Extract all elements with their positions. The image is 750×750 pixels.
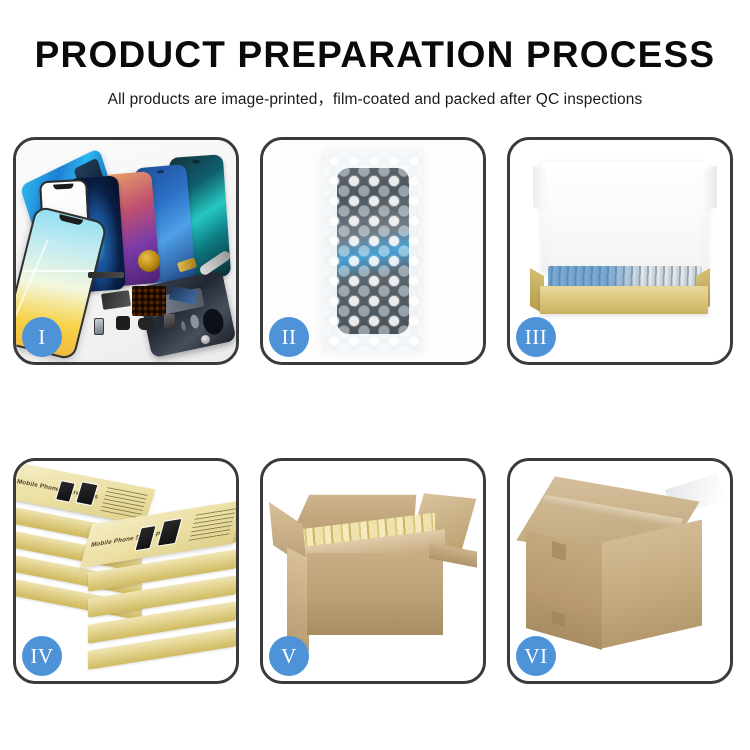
gold-connector-icon	[177, 257, 197, 272]
step-badge-2: II	[269, 317, 309, 357]
box-front-panel	[540, 286, 708, 314]
header: PRODUCT PREPARATION PROCESS All products…	[0, 0, 750, 109]
notch-icon	[53, 184, 73, 190]
printed-screen-image	[157, 518, 183, 547]
button-part-icon	[138, 318, 154, 330]
camera-module-icon	[116, 316, 130, 330]
printed-spec-lines	[189, 507, 236, 541]
step-badge-1: I	[22, 317, 62, 357]
ic-chip-icon	[132, 286, 166, 316]
step-panel-5: V	[260, 458, 486, 684]
product-preparation-infographic: PRODUCT PREPARATION PROCESS All products…	[0, 0, 750, 750]
notch-icon	[58, 214, 83, 226]
bubble-wrapped-contents	[548, 266, 702, 288]
bubble-wrap-bag	[324, 151, 422, 351]
flex-cable-blue-icon	[169, 285, 197, 304]
step-panel-6: VI	[507, 458, 733, 684]
carton-front-face	[307, 553, 443, 635]
page-title: PRODUCT PREPARATION PROCESS	[0, 36, 750, 75]
step-badge-4: IV	[22, 636, 62, 676]
process-steps-grid: I II	[0, 137, 750, 684]
screw-icon	[201, 335, 210, 344]
step-badge-6: VI	[516, 636, 556, 676]
step-panel-1: I	[13, 137, 239, 365]
sensor-part-icon	[164, 314, 175, 329]
sim-tray-icon	[94, 318, 104, 335]
step-panel-2: II	[260, 137, 486, 365]
step-panel-3: III	[507, 137, 733, 365]
page-subtitle: All products are image-printed，film-coat…	[0, 87, 750, 109]
bubble-highlights	[324, 151, 422, 351]
foam-padding	[550, 202, 700, 268]
printed-spec-lines	[100, 486, 147, 518]
printed-screen-image	[75, 481, 99, 506]
speaker-bar-icon	[88, 272, 124, 278]
spare-parts-cluster	[86, 254, 206, 344]
step-panel-4: Mobile Phone Spare Parts Mobile Phone Sp…	[13, 458, 239, 684]
flex-cable-icon	[101, 290, 131, 310]
printed-screen-image	[55, 480, 76, 503]
step-badge-5: V	[269, 636, 309, 676]
step-badge-3: III	[516, 317, 556, 357]
vibration-motor-icon	[138, 250, 160, 272]
